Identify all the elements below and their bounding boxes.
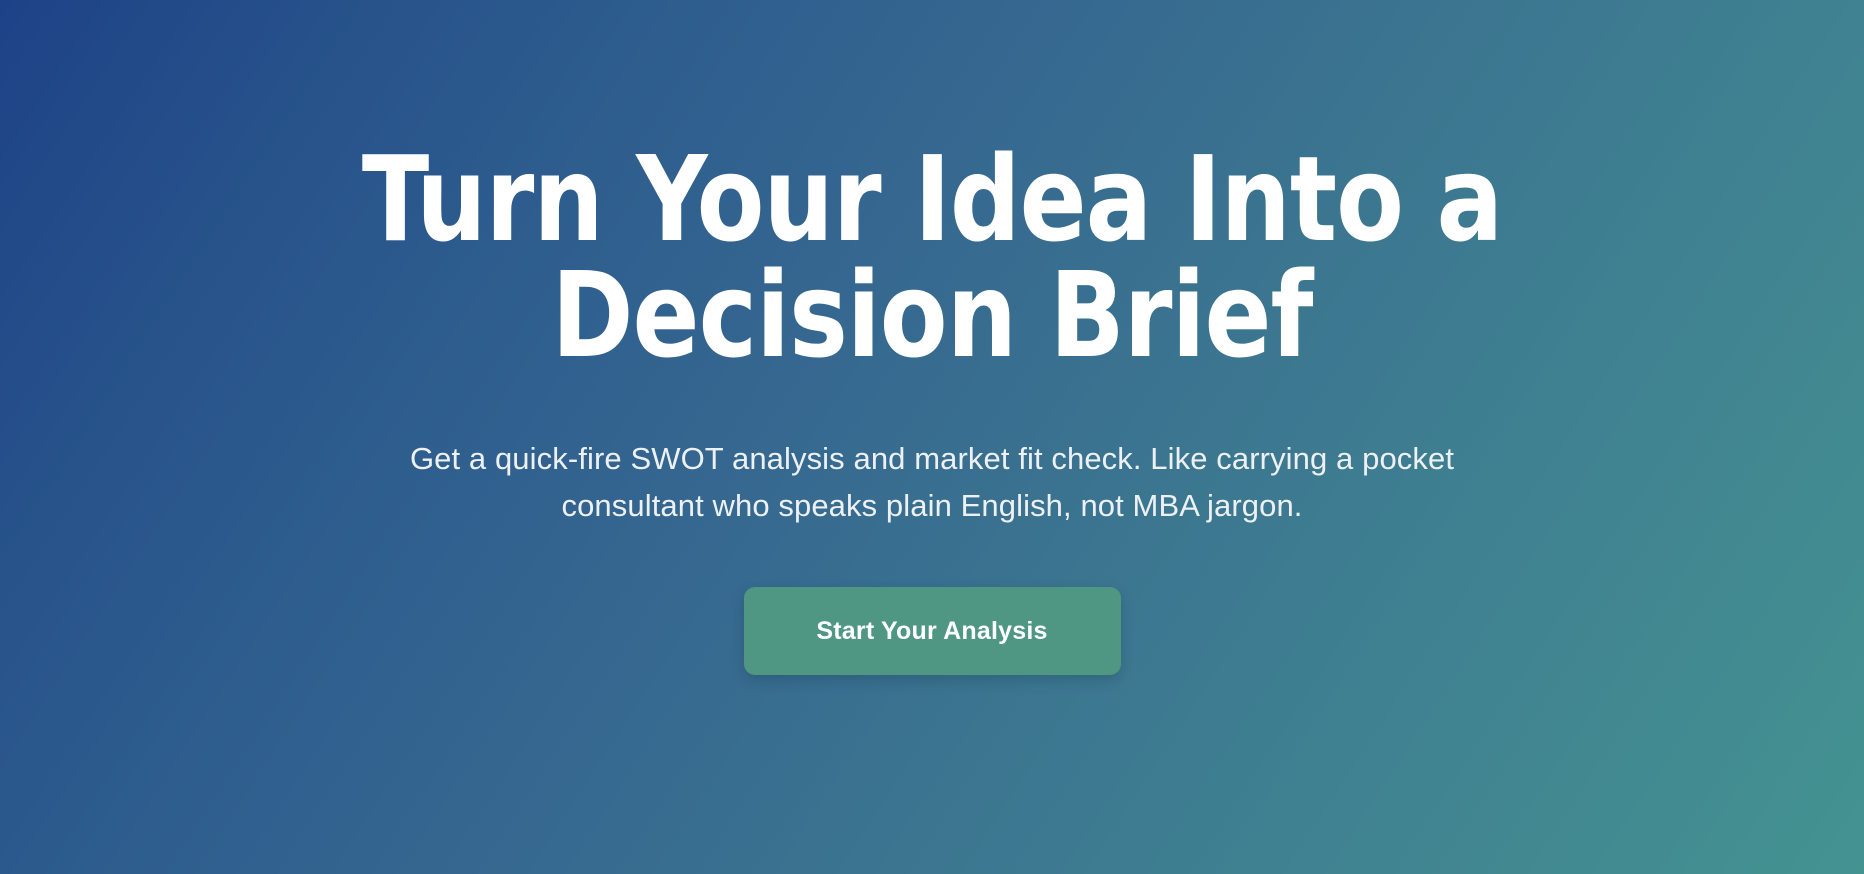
hero-subtitle: Get a quick-fire SWOT analysis and marke… [342, 435, 1522, 529]
start-your-analysis-button[interactable]: Start Your Analysis [744, 587, 1121, 675]
subtitle-line-1: Get a quick-fire SWOT analysis and marke… [342, 435, 1522, 482]
subtitle-line-2: consultant who speaks plain English, not… [342, 482, 1522, 529]
page-title: Turn Your Idea Into a Decision Brief [282, 142, 1582, 373]
cta-container: Start Your Analysis [0, 587, 1864, 675]
hero-section: Turn Your Idea Into a Decision Brief Get… [0, 0, 1864, 874]
headline-line-2: Decision Brief [328, 258, 1537, 374]
headline-line-1: Turn Your Idea Into a [328, 142, 1537, 258]
